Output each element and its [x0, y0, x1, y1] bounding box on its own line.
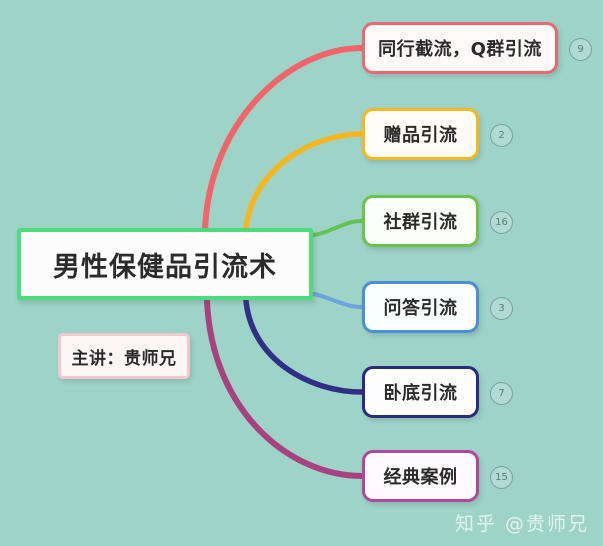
- branch-node-2-label: 社群引流: [384, 208, 458, 234]
- branch-node-0-badge[interactable]: 9: [569, 38, 592, 61]
- branch-node-0[interactable]: 同行截流，Q群引流: [362, 22, 558, 74]
- branch-node-1-label: 赠品引流: [384, 121, 458, 147]
- branch-node-5-label: 经典案例: [384, 463, 458, 489]
- branch-node-3-badge[interactable]: 3: [490, 297, 513, 320]
- mindmap-canvas: 男性保健品引流术 主讲：贵师兄 同行截流，Q群引流 9 赠品引流 2 社群引流 …: [0, 0, 603, 546]
- branch-node-3[interactable]: 问答引流: [362, 281, 479, 333]
- branch-node-3-label: 问答引流: [384, 294, 458, 320]
- edge-to-branch-1: [246, 134, 362, 229]
- branch-node-1-badge[interactable]: 2: [490, 124, 513, 147]
- branch-node-5[interactable]: 经典案例: [362, 450, 479, 502]
- branch-node-4-label: 卧底引流: [384, 379, 458, 405]
- root-node-label: 男性保健品引流术: [53, 245, 277, 284]
- branch-node-4-badge[interactable]: 7: [490, 382, 513, 405]
- branch-node-1[interactable]: 赠品引流: [362, 108, 479, 160]
- watermark: 知乎 @贵师兄: [455, 509, 589, 536]
- branch-node-4[interactable]: 卧底引流: [362, 366, 479, 418]
- root-node[interactable]: 男性保健品引流术: [17, 228, 313, 300]
- branch-node-5-badge[interactable]: 15: [490, 466, 513, 489]
- edge-to-branch-2: [314, 221, 362, 235]
- edge-to-branch-4: [246, 301, 362, 392]
- branch-node-2[interactable]: 社群引流: [362, 195, 479, 247]
- presenter-node-label: 主讲：贵师兄: [72, 344, 177, 369]
- edge-to-branch-3: [314, 294, 362, 307]
- branch-node-2-badge[interactable]: 16: [490, 211, 513, 234]
- presenter-node[interactable]: 主讲：贵师兄: [58, 333, 190, 379]
- branch-node-0-label: 同行截流，Q群引流: [378, 35, 542, 61]
